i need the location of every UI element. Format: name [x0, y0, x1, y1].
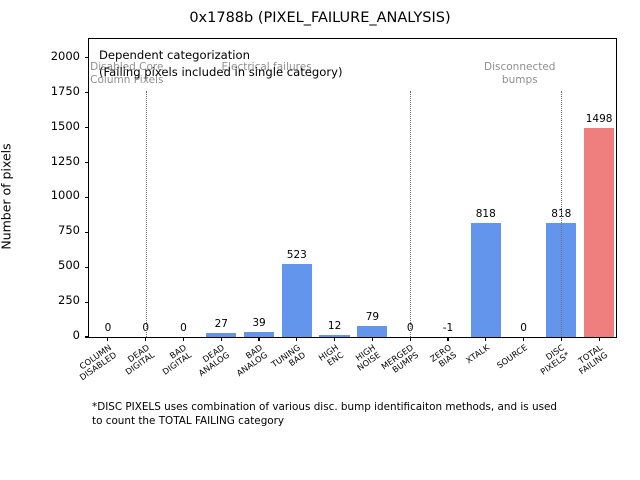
- y-tick-label: 1000: [32, 188, 80, 202]
- chart-footnote: *DISC PIXELS uses combination of various…: [92, 400, 562, 428]
- x-tick-mark: [372, 337, 373, 341]
- bar: [244, 332, 274, 337]
- y-tick-label: 1500: [32, 119, 80, 133]
- x-tick-mark: [221, 337, 222, 341]
- chart-figure: 0x1788b (PIXEL_FAILURE_ANALYSIS) Number …: [0, 0, 640, 480]
- x-tick-mark: [296, 337, 297, 341]
- bar-value-label: 0: [494, 322, 554, 334]
- y-tick-label: 500: [32, 258, 80, 272]
- bar-value-label: 39: [229, 317, 289, 329]
- bar-value-label: -1: [418, 322, 478, 334]
- bar-value-label: 523: [267, 249, 327, 261]
- x-tick-mark: [599, 337, 600, 341]
- bar: [319, 335, 349, 337]
- group-label: Disconnected bumps: [460, 61, 580, 87]
- y-tick-label: 1750: [32, 84, 80, 98]
- x-tick-mark: [107, 337, 108, 341]
- bar-value-label: 1498: [569, 113, 616, 125]
- x-tick-mark: [410, 337, 411, 341]
- chart-title: 0x1788b (PIXEL_FAILURE_ANALYSIS): [0, 10, 640, 26]
- x-tick-mark: [523, 337, 524, 341]
- bar: [471, 223, 501, 337]
- category-divider: [146, 91, 147, 337]
- bar: [584, 128, 614, 337]
- x-tick-mark: [334, 337, 335, 341]
- y-tick-label: 250: [32, 293, 80, 307]
- category-divider: [561, 91, 562, 337]
- y-axis-label: Number of pixels: [0, 47, 14, 347]
- x-tick-mark: [258, 337, 259, 341]
- y-tick-label: 2000: [32, 49, 80, 63]
- x-tick-mark: [145, 337, 146, 341]
- x-tick-mark: [561, 337, 562, 341]
- plot-area: Number of pixels 02505007501000125015001…: [88, 38, 617, 338]
- category-divider: [410, 91, 411, 337]
- x-tick-mark: [183, 337, 184, 341]
- bar-value-label: 818: [456, 208, 516, 220]
- bar: [206, 333, 236, 337]
- y-tick-label: 1250: [32, 154, 80, 168]
- legend-note: Dependent categorization (Failing pixels…: [99, 47, 343, 82]
- x-tick-mark: [447, 337, 448, 341]
- y-tick-label: 0: [32, 328, 80, 342]
- x-tick-mark: [485, 337, 486, 341]
- y-tick-label: 750: [32, 223, 80, 237]
- plot-inner: 000273952312790-181808181498 Disabled Co…: [89, 39, 616, 337]
